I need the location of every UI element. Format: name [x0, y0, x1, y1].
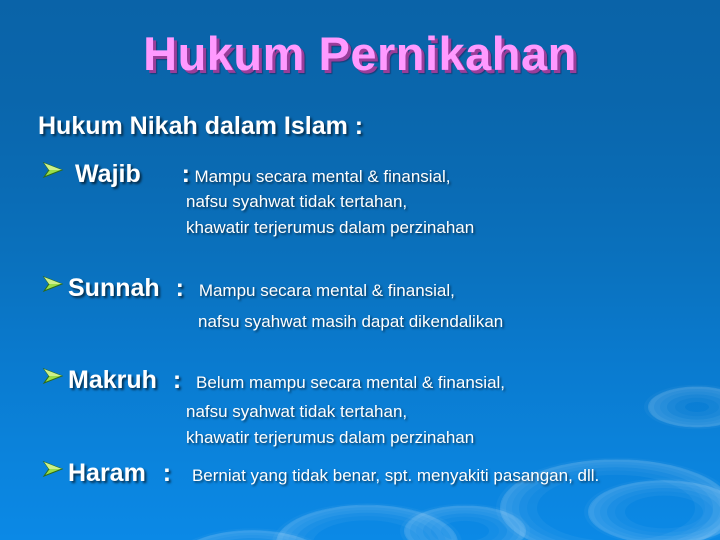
item-continuation-line: khawatir terjerumus dalam perzinahan	[186, 428, 474, 448]
list-item: Makruh : Belum mampu secara mental & fin…	[42, 366, 505, 395]
chevron-arrow-bullet-icon	[42, 160, 68, 180]
item-description: Berniat yang tidak benar, spt. menyakiti…	[192, 466, 599, 485]
item-colon: :	[182, 160, 190, 188]
ripple-circle	[276, 505, 458, 540]
list-item: Wajib : Mampu secara mental & finansial,	[42, 160, 451, 189]
slide-title: Hukum Pernikahan	[0, 26, 720, 81]
item-description: Belum mampu secara mental & finansial,	[196, 373, 505, 392]
ripple-circle	[588, 480, 720, 540]
item-term: Wajib	[75, 160, 141, 188]
item-continuation-line: nafsu syahwat tidak tertahan,	[186, 402, 407, 422]
ripple-circle	[176, 530, 328, 540]
item-term: Sunnah	[68, 274, 160, 302]
item-continuation-line: nafsu syahwat masih dapat dikendalikan	[198, 312, 503, 332]
item-description: Mampu secara mental & finansial,	[194, 167, 450, 186]
list-item: Sunnah : Mampu secara mental & finansial…	[42, 274, 455, 303]
chevron-arrow-bullet-icon	[42, 274, 68, 294]
chevron-arrow-bullet-icon	[42, 459, 68, 479]
chevron-arrow-bullet-icon	[42, 366, 68, 386]
slide-canvas: Hukum Pernikahan Hukum Nikah dalam Islam…	[0, 0, 720, 540]
item-term: Haram	[68, 459, 146, 487]
item-term: Makruh	[68, 366, 157, 394]
list-item: Haram : Berniat yang tidak benar, spt. m…	[42, 459, 599, 488]
slide-subtitle: Hukum Nikah dalam Islam :	[38, 112, 363, 141]
item-continuation-line: nafsu syahwat tidak tertahan,	[186, 192, 407, 212]
item-colon: :	[176, 274, 184, 302]
item-colon: :	[163, 459, 171, 487]
item-description: Mampu secara mental & finansial,	[199, 281, 455, 300]
ripple-circle	[648, 386, 720, 427]
item-continuation-line: khawatir terjerumus dalam perzinahan	[186, 218, 474, 238]
ripple-circle	[404, 505, 526, 540]
item-colon: :	[173, 366, 181, 394]
